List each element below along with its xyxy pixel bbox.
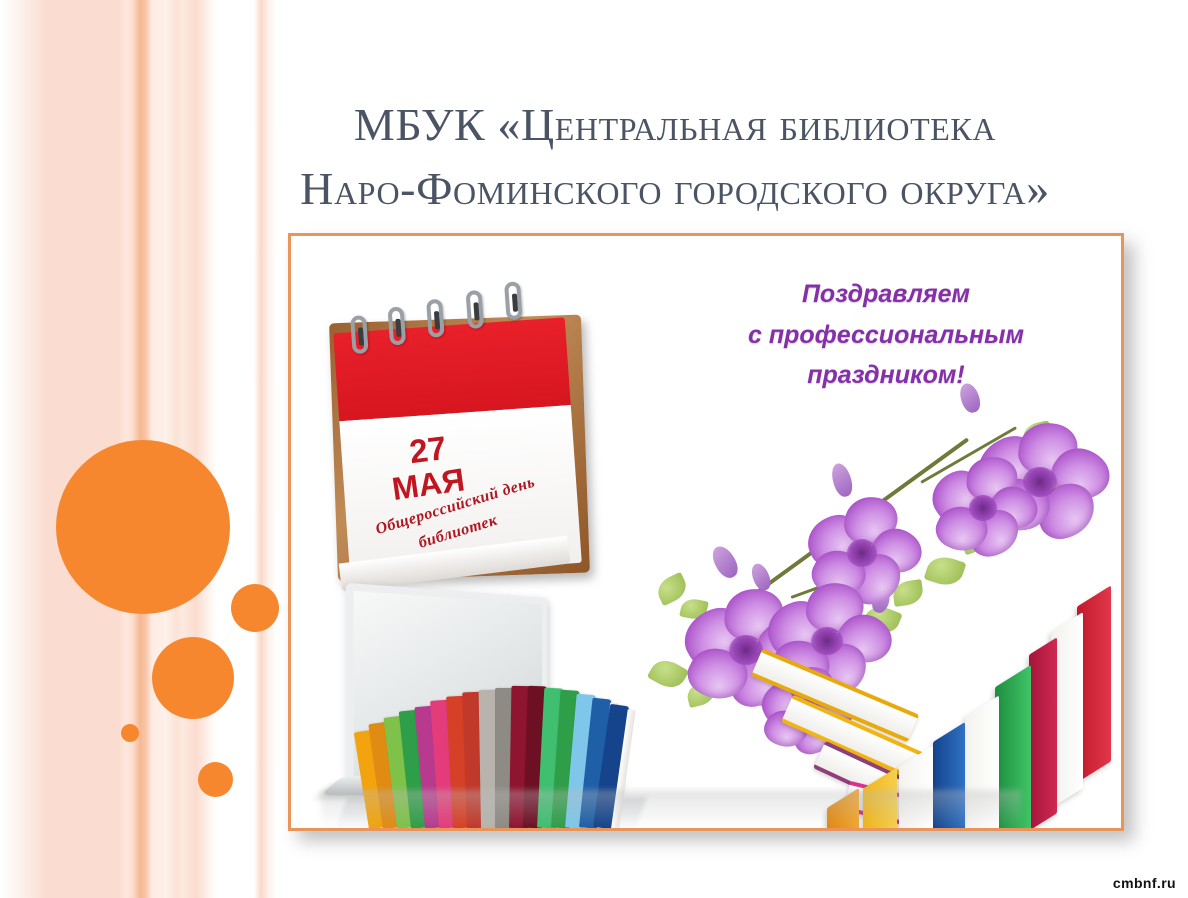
flower-bud xyxy=(829,461,856,499)
flower-bud xyxy=(708,542,742,581)
decorative-circle-tiny xyxy=(121,724,139,742)
decorative-circle-large xyxy=(56,440,230,614)
decorative-circle-xsmall xyxy=(198,762,233,797)
decorative-circle-medium xyxy=(152,637,234,719)
picture-frame: 27 МАЯ Общероссийский день библиотек Поз… xyxy=(288,233,1124,831)
picture-canvas: 27 МАЯ Общероссийский день библиотек Поз… xyxy=(291,236,1121,828)
flower-bloom xyxy=(929,457,1039,561)
title-line-1: МБУК «Центральная библиотека xyxy=(354,99,996,150)
greeting-line-2: с профессиональным xyxy=(691,315,1081,356)
calendar-ring-icon xyxy=(504,281,523,320)
calendar-illustration: 27 МАЯ Общероссийский день библиотек xyxy=(302,271,614,610)
floor-reflection xyxy=(321,790,1021,828)
flower-core xyxy=(847,539,877,567)
book xyxy=(1029,637,1057,828)
calendar-ring-icon xyxy=(426,299,445,338)
greeting-text: Поздравляем с профессиональным празднико… xyxy=(691,274,1081,396)
title-line-2: Наро-Фоминского городского округа» xyxy=(200,157,1150,220)
slide-canvas: МБУК «Центральная библиотека Наро-Фоминс… xyxy=(0,0,1188,898)
decorative-circle-small xyxy=(231,584,279,632)
watermark: cmbnf.ru xyxy=(1109,874,1180,892)
calendar-ring-icon xyxy=(350,315,369,354)
flower-core xyxy=(969,495,997,521)
greeting-line-1: Поздравляем xyxy=(691,274,1081,315)
greeting-line-3: праздником! xyxy=(691,355,1081,396)
calendar-ring-icon xyxy=(388,306,407,345)
calendar-ring-icon xyxy=(466,290,485,329)
